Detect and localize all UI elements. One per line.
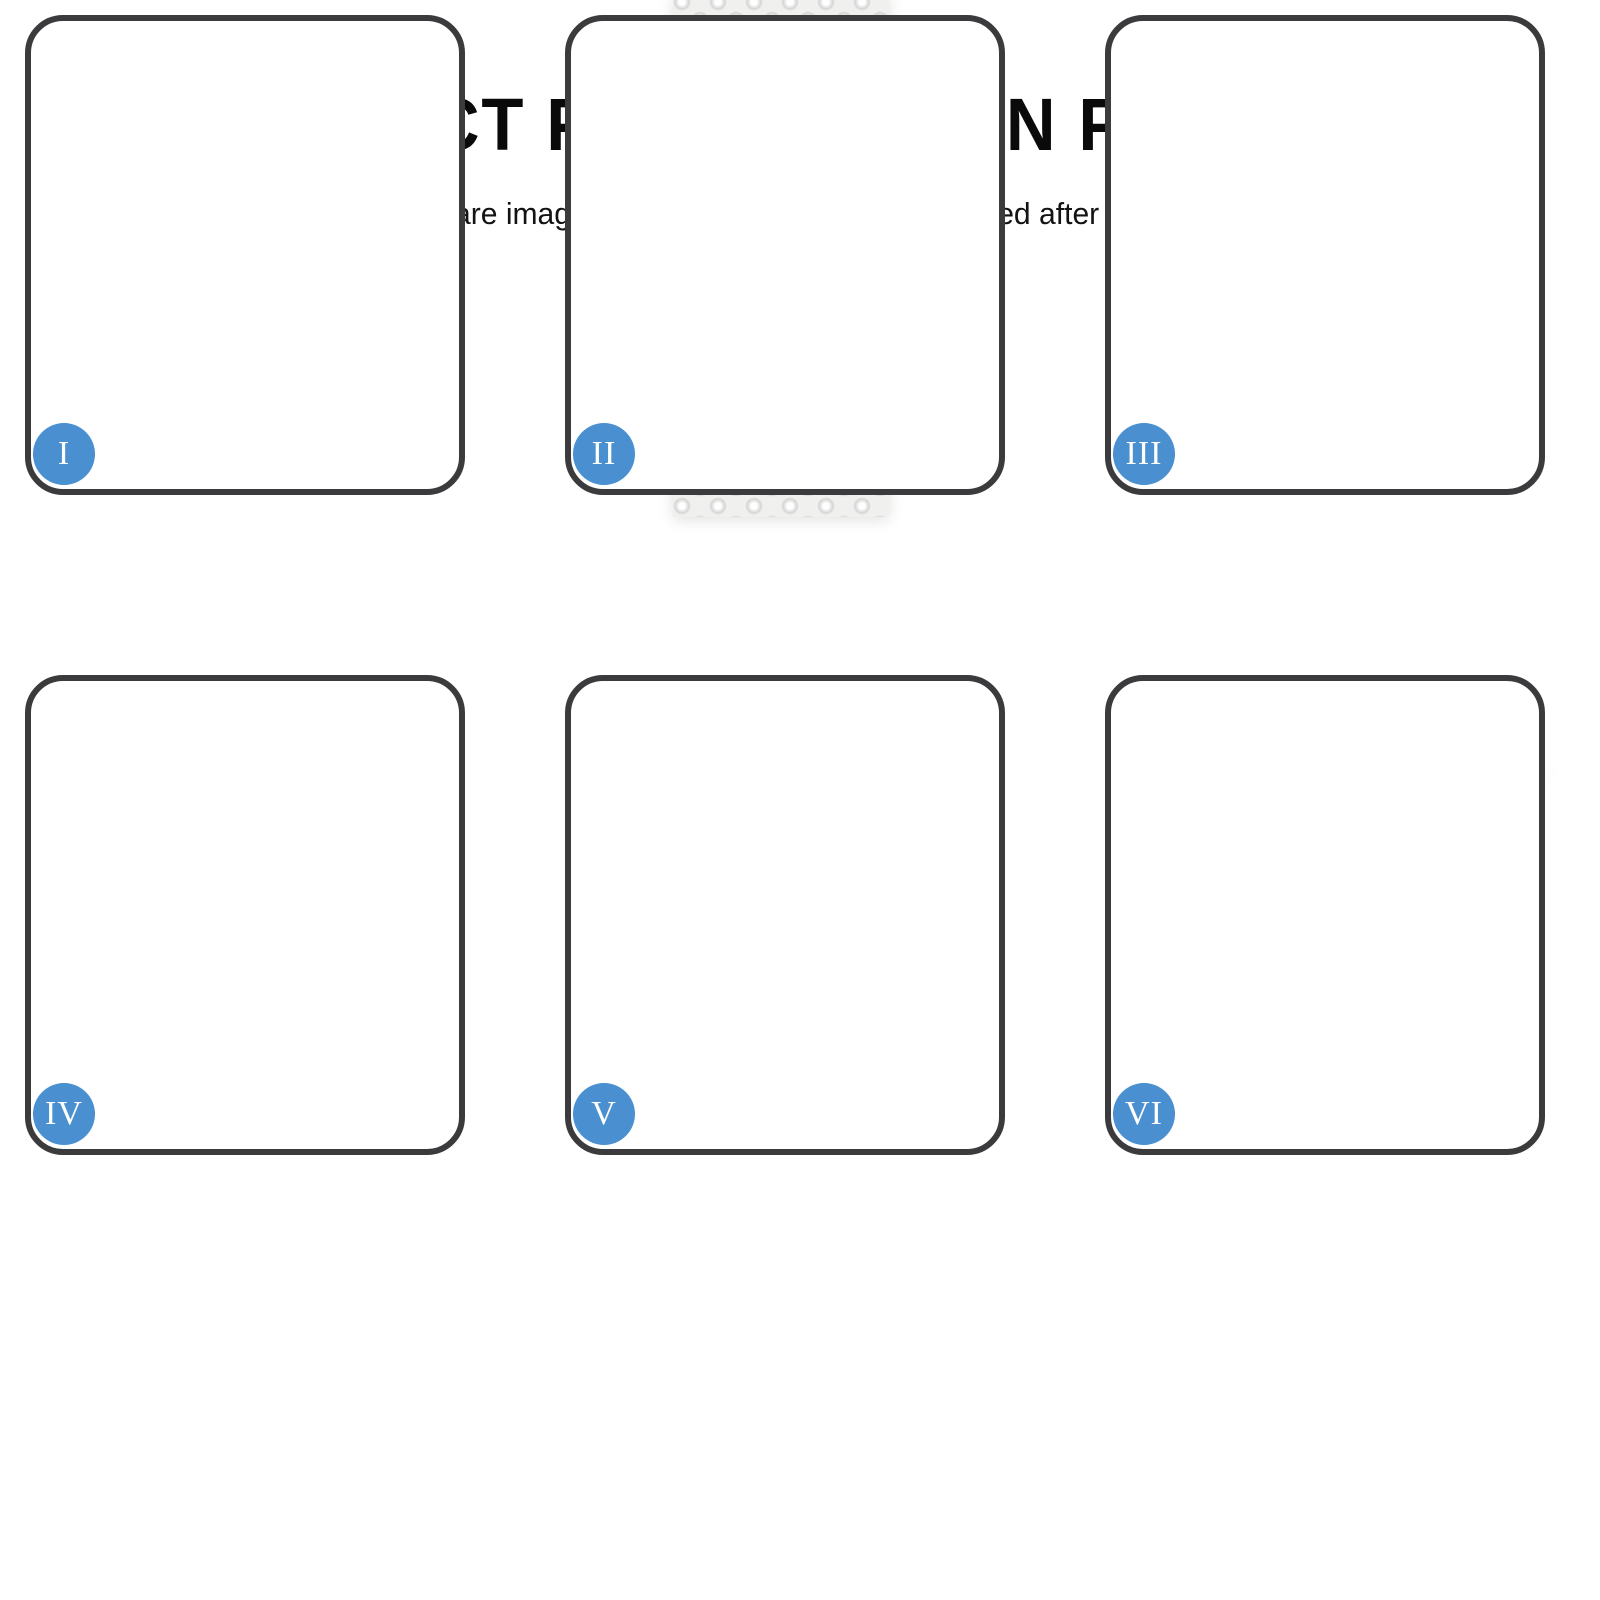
step-1-frame [25, 15, 465, 495]
step-badge-6: VI [1113, 1083, 1175, 1145]
step-3-frame [1105, 15, 1545, 495]
step-badge-1: I [33, 423, 95, 485]
step-badge-4: IV [33, 1083, 95, 1145]
step-badge-5: V [573, 1083, 635, 1145]
step-2-frame [565, 15, 1005, 495]
process-step-3: III [1105, 15, 1545, 495]
process-step-6: VI [1105, 675, 1545, 1155]
process-step-1: I [25, 15, 465, 495]
process-step-5: V [565, 675, 1005, 1155]
step-4-frame [25, 675, 465, 1155]
step-badge-3: III [1113, 423, 1175, 485]
process-step-4: Mobile Phone Spare Parts LCD Digitizer T… [25, 675, 465, 1155]
process-step-2: II [565, 15, 1005, 495]
step-6-frame [1105, 675, 1545, 1155]
step-5-frame [565, 675, 1005, 1155]
step-badge-2: II [573, 423, 635, 485]
